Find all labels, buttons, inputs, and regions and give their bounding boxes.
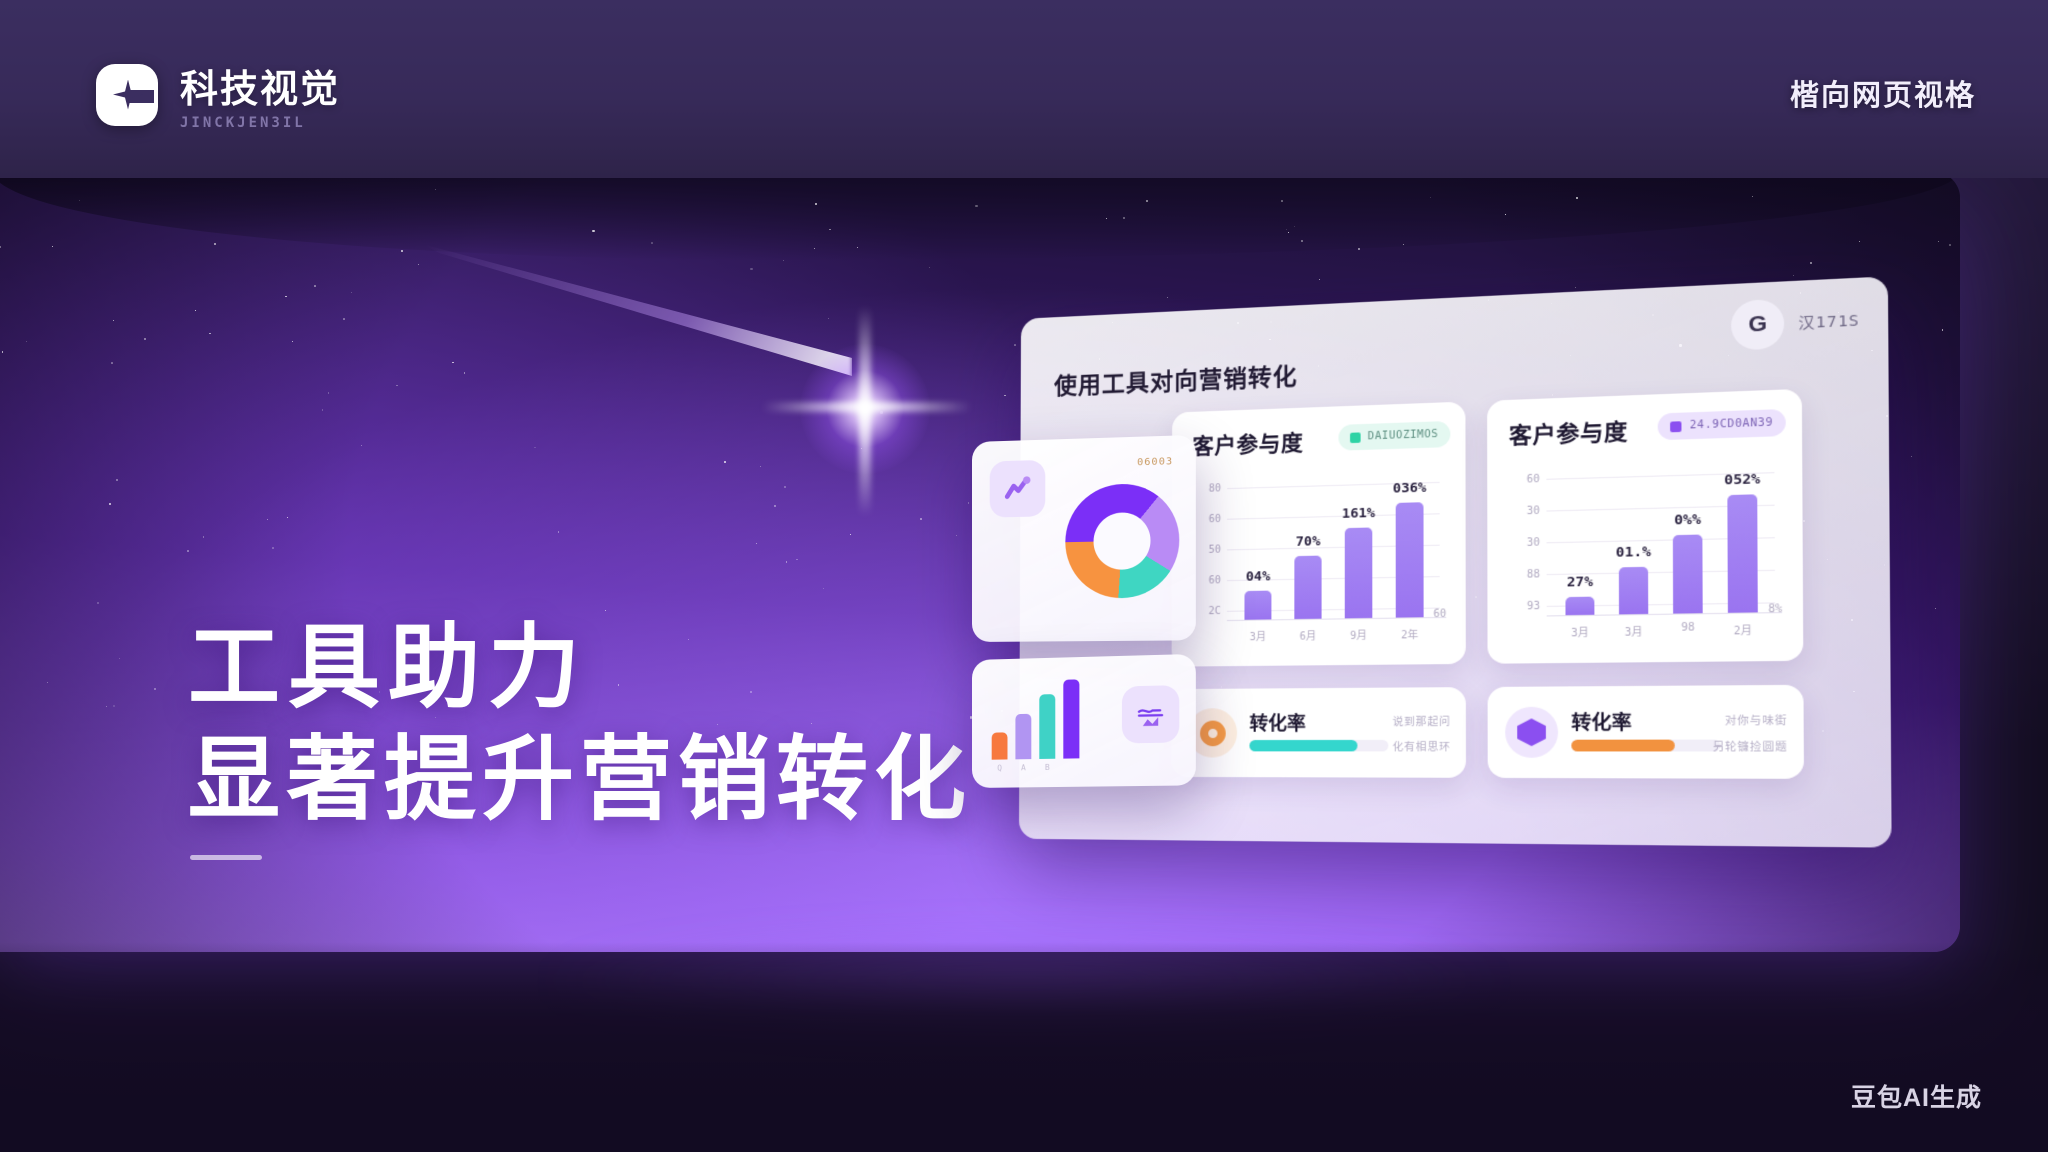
metric-right-progress	[1571, 740, 1720, 752]
watermark: 豆包AI生成	[1851, 1078, 1982, 1114]
x-axis-tick: 3月	[1619, 623, 1648, 639]
bar[interactable]	[1727, 494, 1757, 613]
user-name-label: 汉171S	[1798, 309, 1860, 333]
bar[interactable]	[1673, 534, 1703, 613]
bar[interactable]	[1294, 556, 1321, 619]
bar-column[interactable]: 161%	[1345, 527, 1373, 618]
chart-left-legend[interactable]: DAIUOZIMOS	[1338, 421, 1450, 451]
x-axis-ticks: 3月6月9月2年	[1233, 625, 1435, 643]
x-axis-name: 8%	[1768, 603, 1782, 615]
bar-group: 04%70%161%036%	[1233, 494, 1435, 620]
x-axis-tick: 6月	[1294, 627, 1321, 643]
x-axis-name: 60	[1433, 608, 1446, 620]
mini-bar	[1039, 694, 1055, 759]
bar-value-label: 0%%	[1674, 512, 1701, 529]
growth-arrow-icon	[990, 460, 1046, 518]
comet-tail	[422, 244, 852, 394]
chart-right-legend[interactable]: 24.9CD0AN39	[1658, 409, 1786, 440]
bar-column[interactable]: 27%	[1565, 597, 1594, 616]
growth-arrow-glyph	[1003, 473, 1033, 504]
metric-right-sub-2: 另轮镰捡圆题	[1713, 737, 1788, 753]
mini-bar-tick: A	[1015, 763, 1031, 772]
bar-value-label: 036%	[1393, 480, 1427, 497]
brand-logo[interactable]: 科技视觉 JINCKJEN3IL	[96, 58, 340, 131]
bar[interactable]	[1244, 591, 1271, 620]
chart-card-left[interactable]: 客户参与度 DAIUOZIMOS 806050602C04%70%161%036…	[1172, 402, 1466, 667]
avatar[interactable]: G	[1731, 299, 1784, 351]
cube-icon-glyph	[1517, 718, 1546, 746]
metric-left-progress	[1249, 740, 1388, 752]
donut-chart	[1065, 483, 1179, 599]
chart-left-title: 客户参与度	[1192, 426, 1303, 460]
donut-icon-glyph	[1200, 720, 1226, 746]
x-axis-ticks: 3月3月982月	[1553, 621, 1770, 640]
legend-swatch-icon	[1350, 432, 1361, 443]
bar[interactable]	[1345, 527, 1373, 618]
hero-line-1: 工具助力	[188, 612, 972, 724]
mini-bar	[1063, 679, 1079, 758]
metric-right-sub-1: 对你与味街	[1725, 711, 1787, 728]
chart-card-right[interactable]: 客户参与度 24.9CD0AN39 603030889327%01.%0%%05…	[1487, 389, 1803, 664]
bar[interactable]	[1565, 597, 1594, 616]
mini-bar	[1015, 714, 1031, 760]
metric-left-title: 转化率	[1249, 709, 1305, 736]
metric-card-right[interactable]: 转化率 对你与味街 另轮镰捡圆题	[1488, 685, 1804, 779]
y-axis-tick: 88	[1507, 569, 1540, 581]
metric-left-sub-2: 化有相思环	[1393, 738, 1451, 754]
bar-value-label: 27%	[1567, 574, 1593, 590]
metric-left-progress-fill	[1249, 740, 1357, 751]
hero-line-2: 显著提升营销转化	[188, 724, 972, 836]
bar-column[interactable]: 04%	[1244, 591, 1271, 620]
bar-value-label: 052%	[1724, 471, 1760, 488]
mini-bar-ticks: QAB	[992, 762, 1084, 772]
bar-column[interactable]: 0%%	[1673, 534, 1703, 613]
floating-bars-card[interactable]: QAB	[972, 654, 1196, 788]
mini-bar	[992, 732, 1008, 759]
metric-right-title: 转化率	[1571, 707, 1631, 735]
bar-group: 27%01.%0%%052%	[1553, 484, 1771, 615]
metric-left-sub-1: 说到那起问	[1393, 712, 1451, 728]
dashboard-user-area[interactable]: G 汉171S	[1731, 295, 1860, 351]
comet-flare-horizontal	[762, 402, 972, 412]
y-axis-tick: 30	[1507, 537, 1540, 549]
bar-column[interactable]: 036%	[1396, 502, 1424, 617]
y-axis-tick: 60	[1507, 474, 1540, 487]
brand-title: 科技视觉	[180, 58, 340, 113]
bar-column[interactable]: 01.%	[1619, 567, 1648, 615]
mini-bar-tick: Q	[992, 763, 1008, 772]
hero-headline: 工具助力 显著提升营销转化	[188, 612, 972, 836]
x-axis-tick: 3月	[1566, 623, 1595, 639]
brand-text: 科技视觉 JINCKJEN3IL	[180, 58, 340, 131]
brand-subtitle: JINCKJEN3IL	[180, 115, 340, 131]
bar-column[interactable]: 052%	[1727, 494, 1757, 613]
hero-underline-rule	[190, 855, 262, 860]
metric-card-left[interactable]: 转化率 说到那起问 化有相思环	[1171, 687, 1466, 778]
bar-value-label: 70%	[1296, 534, 1321, 550]
corner-label: 楷向网页视格	[1790, 72, 1976, 114]
floor-shadow	[0, 942, 2048, 1152]
scene-root: 工具助力 显著提升营销转化 06003 QAB	[0, 0, 2048, 1152]
legend-label: DAIUOZIMOS	[1368, 429, 1439, 443]
bar-value-label: 01.%	[1616, 544, 1651, 561]
legend-label: 24.9CD0AN39	[1690, 417, 1773, 432]
metric-right-progress-fill	[1571, 740, 1675, 752]
bar-value-label: 04%	[1246, 569, 1270, 585]
cube-icon	[1505, 707, 1558, 758]
bar-column[interactable]: 70%	[1294, 556, 1321, 619]
sparkle-in-g-icon	[96, 64, 158, 126]
bar[interactable]	[1396, 502, 1424, 617]
x-axis-tick: 2年	[1396, 626, 1424, 642]
chart-left-plot: 806050602C04%70%161%036%3月6月9月2年60	[1190, 471, 1446, 648]
x-axis-tick: 9月	[1345, 626, 1373, 642]
dashboard-title: 使用工具对向营销转化	[1054, 357, 1298, 402]
y-axis-tick: 93	[1507, 601, 1540, 613]
mini-bar-tick: B	[1039, 763, 1055, 772]
line-chart-icon	[1122, 685, 1179, 743]
legend-swatch-icon	[1670, 421, 1681, 432]
donut-card-badge: 06003	[1137, 456, 1173, 468]
comet-graphic	[422, 244, 872, 444]
x-axis-tick: 98	[1673, 622, 1703, 639]
floating-donut-card[interactable]: 06003	[972, 435, 1196, 642]
bar-value-label: 161%	[1342, 506, 1375, 522]
line-chart-glyph	[1135, 699, 1166, 730]
top-bar: 科技视觉 JINCKJEN3IL 楷向网页视格	[0, 0, 2048, 178]
donut-hole	[1094, 512, 1151, 570]
bar[interactable]	[1619, 567, 1648, 615]
x-axis-tick: 2月	[1728, 621, 1758, 638]
y-axis-tick: 30	[1507, 505, 1540, 517]
x-axis-tick: 3月	[1244, 628, 1271, 644]
mini-bar-chart	[992, 679, 1084, 759]
chart-right-title: 客户参与度	[1509, 415, 1628, 451]
chart-right-plot: 603030889327%01.%0%%052%3月3月982月8%	[1507, 461, 1782, 644]
